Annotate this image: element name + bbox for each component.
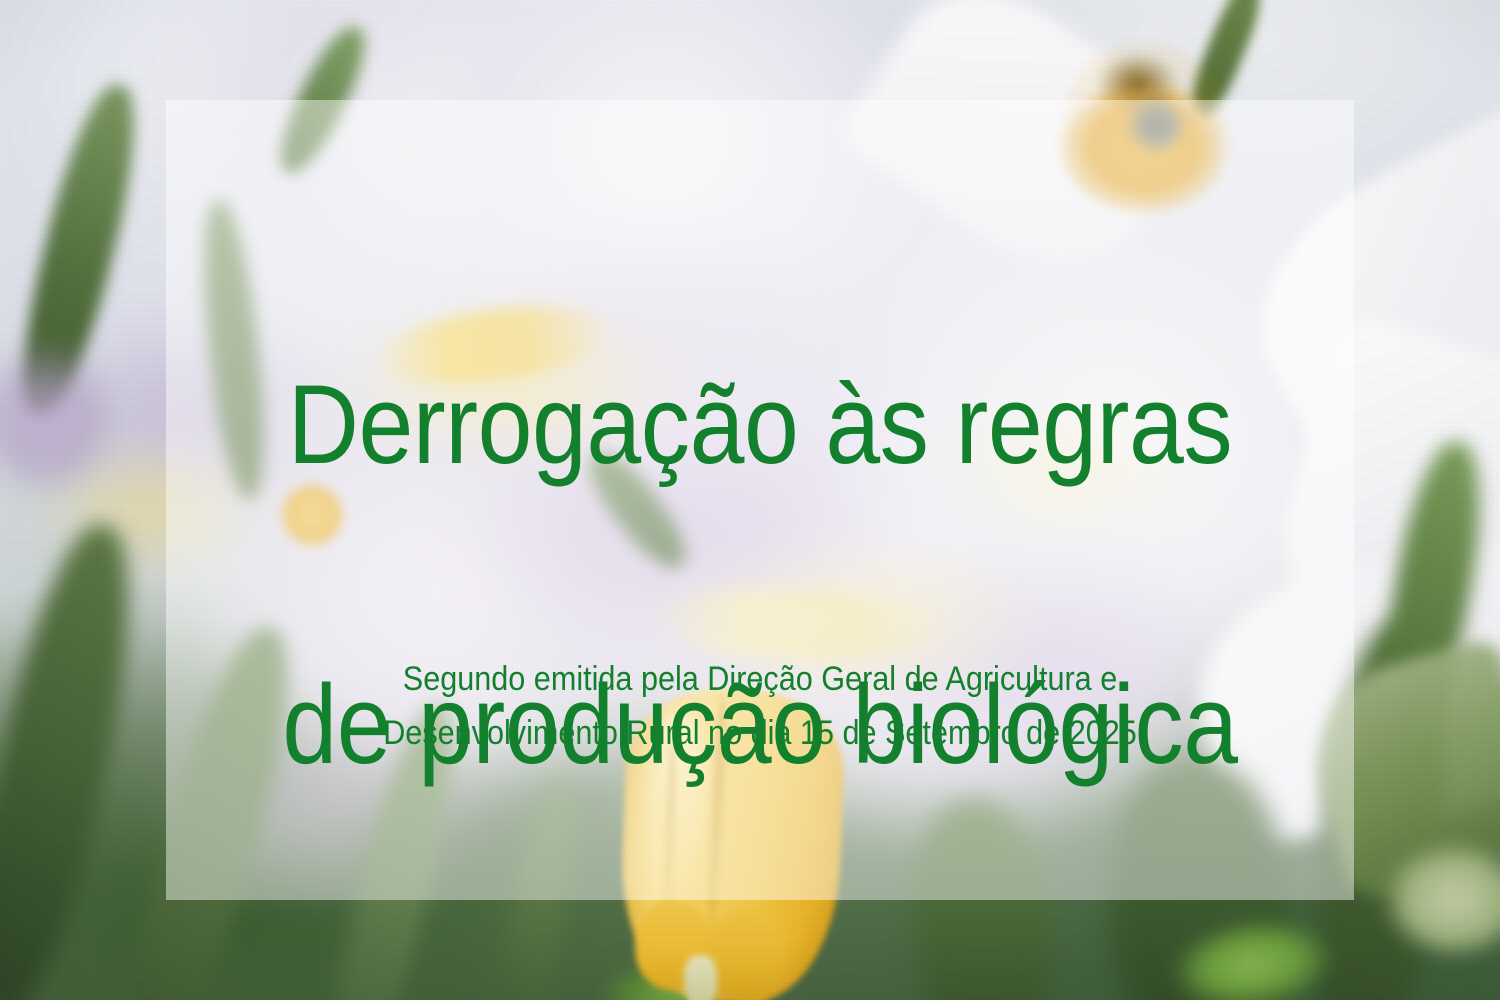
poster-subtitle-line-1: Segundo emitida pela Direção Geral de Ag… xyxy=(225,652,1294,706)
poster-subtitle-line-2: Desenvolvimento Rural no dia 15 de Setem… xyxy=(225,706,1294,760)
poster-title-line-1: Derrogação às regras xyxy=(237,350,1282,500)
poster-card: Derrogação às regras de produção biológi… xyxy=(0,0,1500,1000)
flower-style-tip xyxy=(684,955,717,1000)
poster-subtitle: Segundo emitida pela Direção Geral de Ag… xyxy=(225,652,1294,760)
poster-title: Derrogação às regras de produção biológi… xyxy=(237,200,1282,950)
poster-text-block: Derrogação às regras de produção biológi… xyxy=(166,100,1354,900)
